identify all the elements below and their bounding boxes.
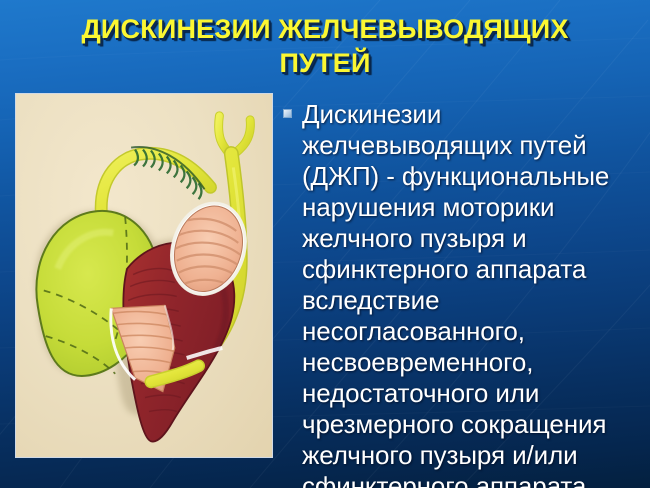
presentation-slide: ДИСКИНЕЗИИ ЖЕЛЧЕВЫВОДЯЩИХ ПУТЕЙ: [0, 0, 650, 488]
illustration-artwork: [16, 94, 272, 456]
body-text-block: Дискинезии желчевыводящих путей (ДЖП) - …: [283, 99, 645, 488]
biliary-tract-anatomy-illustration: [15, 93, 273, 458]
square-bullet-icon: [283, 109, 292, 118]
body-paragraph: Дискинезии желчевыводящих путей (ДЖП) - …: [302, 99, 645, 488]
slide-title: ДИСКИНЕЗИИ ЖЕЛЧЕВЫВОДЯЩИХ ПУТЕЙ: [0, 12, 650, 80]
